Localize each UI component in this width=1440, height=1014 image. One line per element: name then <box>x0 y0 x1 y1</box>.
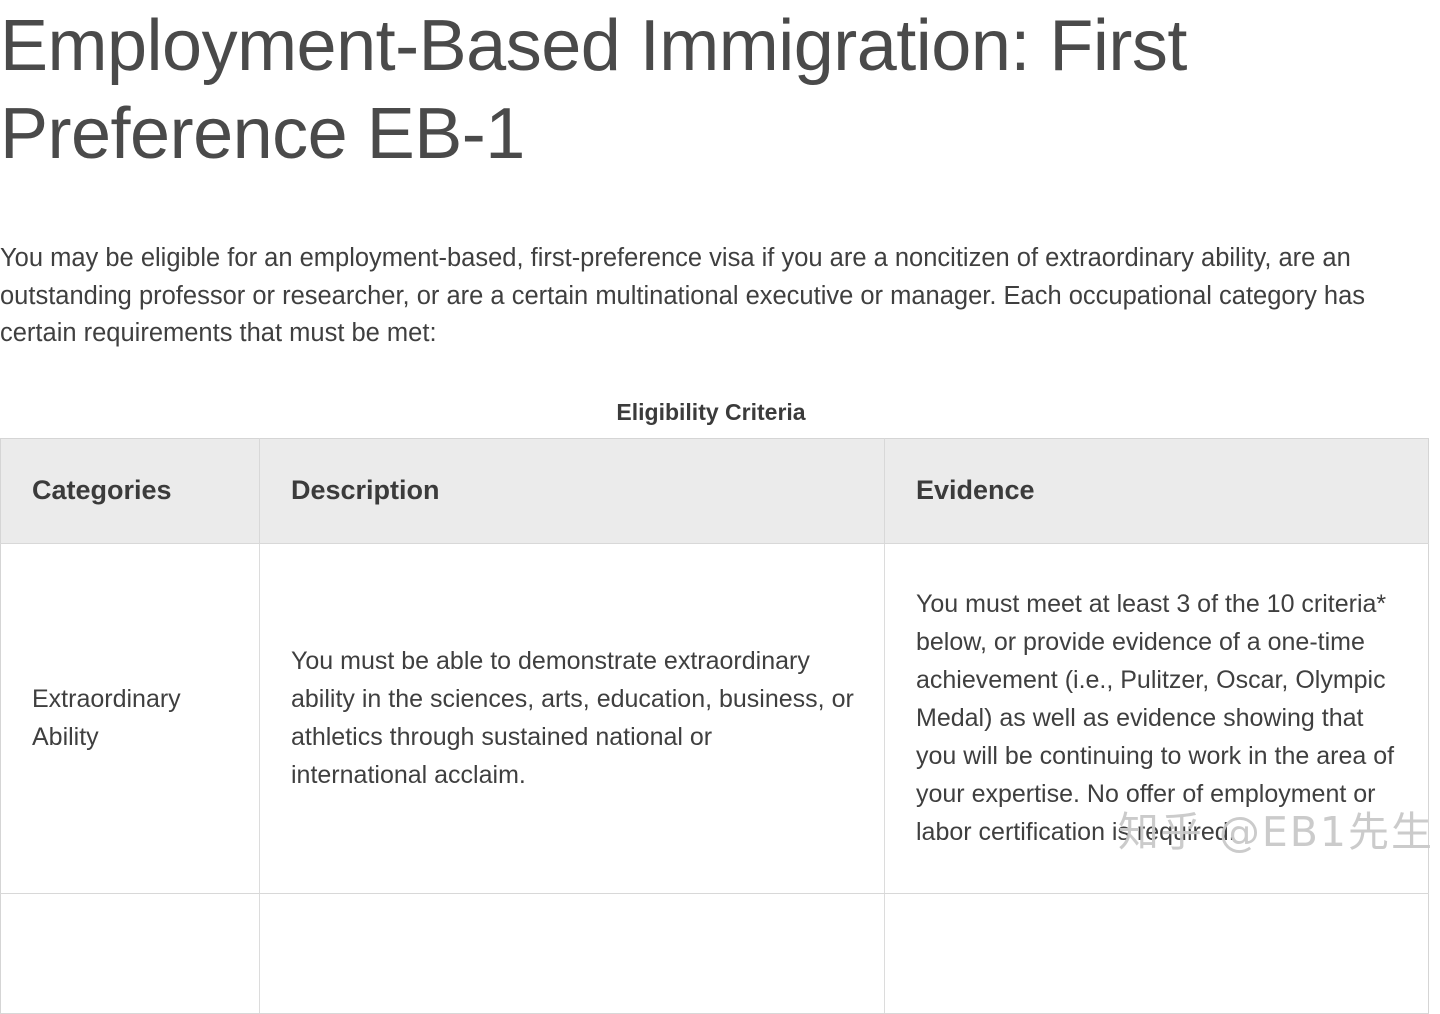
cell-category <box>1 893 260 1013</box>
cell-evidence <box>885 893 1429 1013</box>
cell-description <box>260 893 885 1013</box>
page-title: Employment-Based Immigration: First Pref… <box>0 0 1430 178</box>
document-page: Employment-Based Immigration: First Pref… <box>0 0 1440 892</box>
column-header-evidence: Evidence <box>885 438 1429 543</box>
table-body: Extraordinary Ability You must be able t… <box>1 543 1429 1013</box>
table-row <box>1 893 1429 1013</box>
intro-paragraph: You may be eligible for an employment-ba… <box>0 178 1430 353</box>
table-header: Categories Description Evidence <box>1 438 1429 543</box>
table-header-row: Categories Description Evidence <box>1 438 1429 543</box>
column-header-categories: Categories <box>1 438 260 543</box>
table-row: Extraordinary Ability You must be able t… <box>1 543 1429 893</box>
column-header-description: Description <box>260 438 885 543</box>
cell-evidence: You must meet at least 3 of the 10 crite… <box>885 543 1429 893</box>
table-caption: Eligibility Criteria <box>0 353 1430 438</box>
cell-description: You must be able to demonstrate extraord… <box>260 543 885 893</box>
cell-category: Extraordinary Ability <box>1 543 260 893</box>
eligibility-criteria-table: Categories Description Evidence Extraord… <box>0 438 1429 1014</box>
